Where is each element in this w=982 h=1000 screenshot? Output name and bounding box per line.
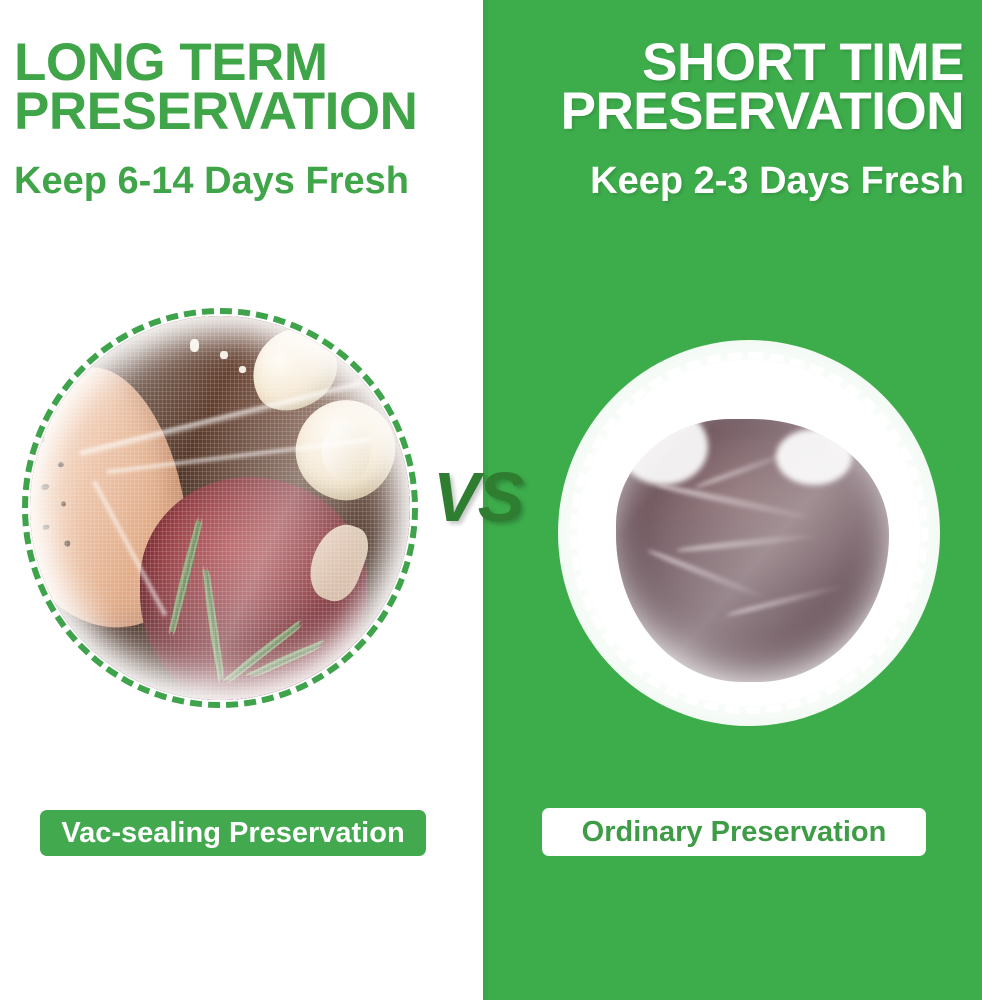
salt-flake-icon bbox=[239, 366, 246, 373]
vac-sealing-label-text: Vac-sealing Preservation bbox=[61, 817, 404, 850]
pepper-speck-icon bbox=[58, 461, 65, 467]
pepper-speck-icon bbox=[43, 523, 51, 529]
bag-fold bbox=[91, 481, 167, 618]
vs-badge: VS bbox=[433, 462, 522, 532]
meat-sinew bbox=[676, 532, 818, 553]
rosemary-sprig-icon bbox=[224, 621, 302, 684]
pepper-speck-icon bbox=[64, 540, 71, 547]
bag-fold bbox=[79, 381, 361, 458]
pepper-speck-icon bbox=[41, 483, 50, 491]
left-heading: LONG TERM PRESERVATION bbox=[14, 38, 469, 137]
rosemary-sprig-icon bbox=[167, 519, 204, 633]
vac-sealed-food-image bbox=[30, 316, 410, 700]
right-subheading: Keep 2-3 Days Fresh bbox=[590, 160, 964, 203]
left-heading-line2: PRESERVATION bbox=[14, 87, 469, 136]
vacuum-bag-mesh-texture bbox=[30, 316, 410, 700]
pepper-speck-icon bbox=[281, 404, 290, 411]
plastic-wrap-sheen bbox=[578, 360, 920, 706]
pepper-speck-icon bbox=[61, 501, 67, 507]
wrap-highlight bbox=[776, 429, 851, 484]
left-subheading: Keep 6-14 Days Fresh bbox=[14, 160, 409, 203]
meat-sinew bbox=[646, 548, 765, 601]
ordinary-label-text: Ordinary Preservation bbox=[582, 816, 887, 849]
meat-sinew bbox=[655, 481, 812, 521]
salt-flake-icon bbox=[220, 351, 228, 359]
right-photo bbox=[578, 360, 920, 706]
vacuum-bag-plastic-sheen bbox=[30, 316, 410, 700]
meat-sinew bbox=[695, 448, 800, 490]
left-photo-circle bbox=[22, 308, 418, 708]
ordinary-label-pill: Ordinary Preservation bbox=[542, 808, 926, 856]
left-panel: LONG TERM PRESERVATION Keep 6-14 Days Fr… bbox=[0, 0, 483, 1000]
bag-fold bbox=[107, 438, 372, 475]
steak-fat-cap bbox=[302, 517, 376, 608]
rosemary-sprig-icon bbox=[201, 569, 224, 680]
right-heading: SHORT TIME PRESERVATION bbox=[494, 38, 964, 137]
left-photo bbox=[30, 316, 410, 700]
vac-sealing-label-pill: Vac-sealing Preservation bbox=[40, 810, 426, 856]
right-heading-line2: PRESERVATION bbox=[494, 87, 964, 136]
meat-sinew bbox=[726, 583, 844, 617]
comparison-poster: LONG TERM PRESERVATION Keep 6-14 Days Fr… bbox=[0, 0, 982, 1000]
right-heading-line1: SHORT TIME bbox=[494, 38, 964, 87]
wrap-highlight bbox=[619, 408, 708, 484]
salt-flake-icon bbox=[190, 339, 199, 352]
right-photo-circle bbox=[570, 352, 928, 714]
ordinary-wrapped-meat-image bbox=[578, 360, 920, 706]
left-heading-line1: LONG TERM bbox=[14, 38, 469, 87]
rosemary-sprig-icon bbox=[248, 640, 322, 678]
meat-piece bbox=[616, 419, 890, 682]
